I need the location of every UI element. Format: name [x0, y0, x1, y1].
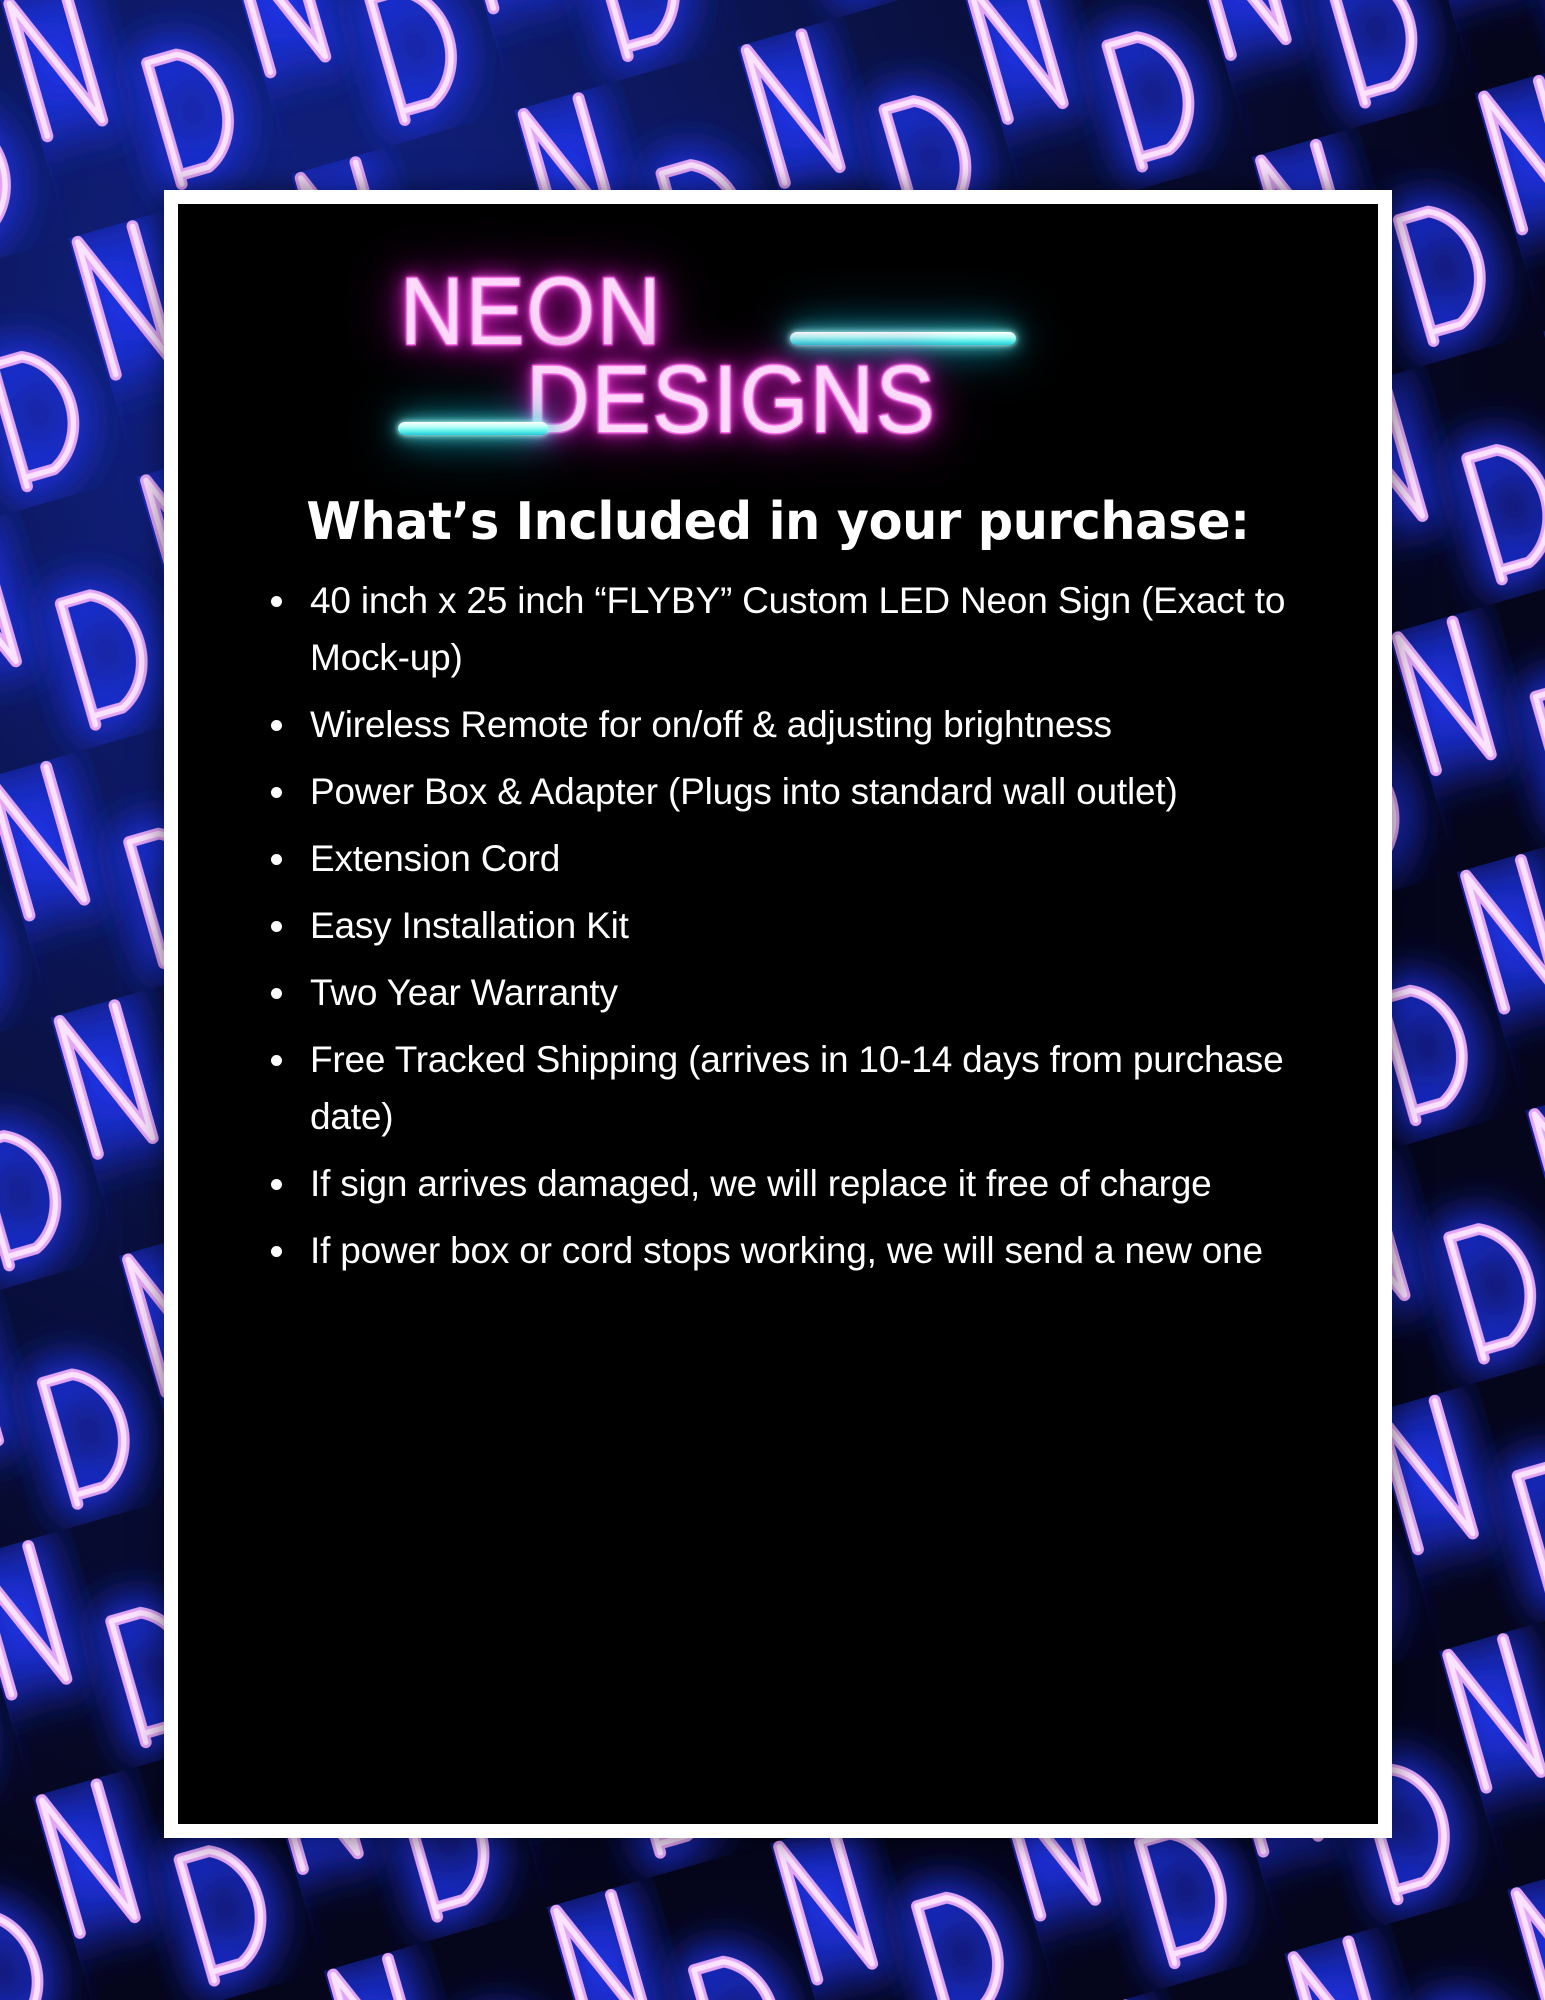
list-item: Wireless Remote for on/off & adjusting b…	[244, 696, 1310, 753]
bullet-dot-icon	[271, 854, 282, 865]
list-item: Power Box & Adapter (Plugs into standard…	[244, 763, 1310, 820]
page-root: NEON DESIGNS What’s Included in your pur…	[0, 0, 1545, 2000]
list-item: Two Year Warranty	[244, 964, 1310, 1021]
list-item-label: Power Box & Adapter (Plugs into standard…	[310, 763, 1310, 820]
bullet-dot-icon	[271, 596, 282, 607]
bullet-dot-icon	[271, 1246, 282, 1257]
list-item: Free Tracked Shipping (arrives in 10-14 …	[244, 1031, 1310, 1145]
included-items-list: 40 inch x 25 inch “FLYBY” Custom LED Neo…	[244, 572, 1310, 1289]
info-card-frame: NEON DESIGNS What’s Included in your pur…	[164, 190, 1392, 1838]
cyan-bar-top-icon	[790, 332, 1016, 345]
list-item: If power box or cord stops working, we w…	[244, 1222, 1310, 1279]
list-item-label: Easy Installation Kit	[310, 897, 1310, 954]
cyan-bar-bottom-icon	[398, 422, 548, 435]
bullet-dot-icon	[271, 787, 282, 798]
list-item-label: Extension Cord	[310, 830, 1310, 887]
list-item: 40 inch x 25 inch “FLYBY” Custom LED Neo…	[244, 572, 1310, 686]
bullet-dot-icon	[271, 921, 282, 932]
list-item-label: Wireless Remote for on/off & adjusting b…	[310, 696, 1310, 753]
list-item-label: Two Year Warranty	[310, 964, 1310, 1021]
list-item: Easy Installation Kit	[244, 897, 1310, 954]
page-title: What’s Included in your purchase:	[208, 492, 1348, 552]
bullet-dot-icon	[271, 720, 282, 731]
list-item-label: Free Tracked Shipping (arrives in 10-14 …	[310, 1031, 1310, 1145]
list-item: If sign arrives damaged, we will replace…	[244, 1155, 1310, 1212]
list-item-label: If power box or cord stops working, we w…	[310, 1222, 1310, 1279]
logo-designs-text: DESIGNS	[526, 352, 936, 448]
info-card: NEON DESIGNS What’s Included in your pur…	[178, 204, 1378, 1824]
bullet-dot-icon	[271, 1179, 282, 1190]
list-item-label: If sign arrives damaged, we will replace…	[310, 1155, 1310, 1212]
list-item-label: 40 inch x 25 inch “FLYBY” Custom LED Neo…	[310, 572, 1310, 686]
list-item: Extension Cord	[244, 830, 1310, 887]
logo-word-designs: DESIGNS	[526, 352, 972, 448]
bullet-dot-icon	[271, 1055, 282, 1066]
neon-designs-logo: NEON DESIGNS	[178, 254, 1378, 464]
bullet-dot-icon	[271, 988, 282, 999]
